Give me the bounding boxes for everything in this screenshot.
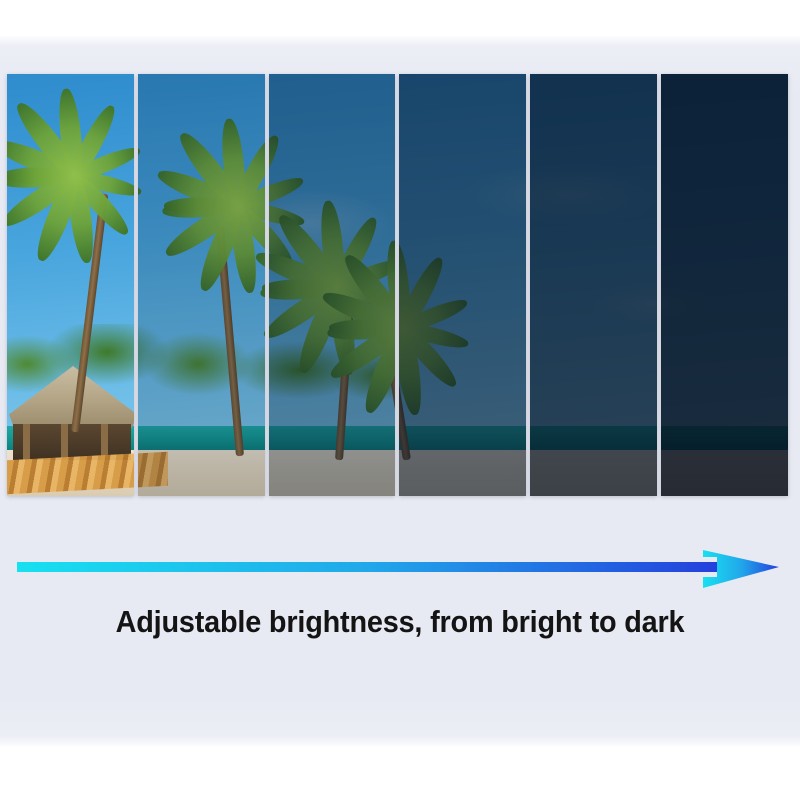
beach-scene: [530, 74, 657, 496]
palm-frond: [329, 319, 396, 336]
arrow-svg: [17, 548, 779, 592]
brightness-panel-3[interactable]: [269, 74, 396, 496]
palm-tree-icon: [399, 312, 455, 460]
sun-loungers: [7, 452, 134, 494]
arrow-shaft: [17, 562, 717, 572]
beach-scene: [7, 74, 134, 496]
palm-frond: [164, 197, 238, 214]
brightness-panel-5[interactable]: [530, 74, 657, 496]
sand-layer: [530, 450, 657, 496]
brightness-panel-6[interactable]: [661, 74, 788, 496]
brightness-panel-row: [7, 74, 788, 496]
sea-layer: [530, 426, 657, 452]
caption-text: Adjustable brightness, from bright to da…: [28, 604, 772, 640]
product-feature-graphic: Adjustable brightness, from bright to da…: [0, 0, 800, 800]
beach-scene: [138, 74, 265, 496]
sand-layer: [661, 450, 788, 496]
palm-tree-icon: [13, 152, 134, 432]
brightness-panel-2[interactable]: [138, 74, 265, 496]
beach-scene: [399, 74, 526, 496]
palm-tree-icon: [158, 186, 265, 456]
palm-frond: [138, 168, 143, 199]
beach-scene: [269, 74, 396, 496]
brightness-panel-4[interactable]: [399, 74, 526, 496]
beach-scene: [661, 74, 788, 496]
palm-tree-icon: [345, 312, 396, 460]
brightness-panel-1[interactable]: [7, 74, 134, 496]
sea-layer: [661, 426, 788, 452]
brightness-gradient-arrow: [17, 548, 779, 592]
